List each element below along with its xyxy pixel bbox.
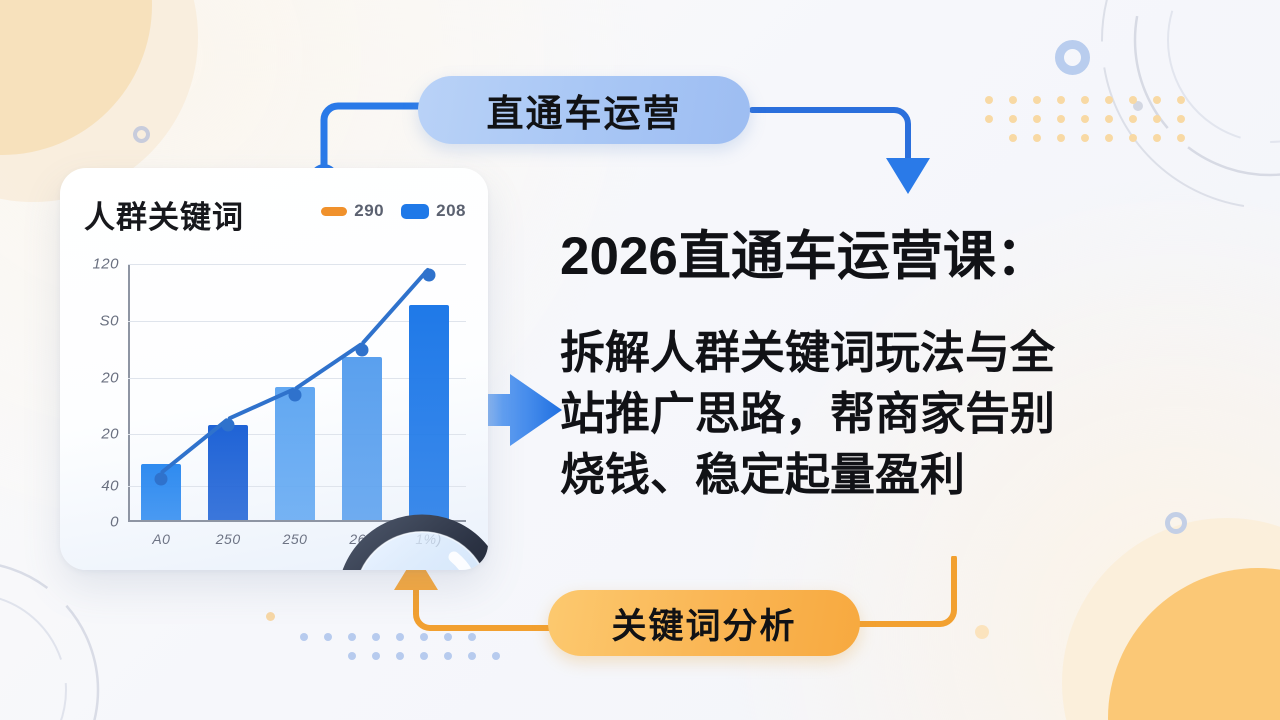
- legend-swatch-bar: [401, 204, 429, 219]
- chart-y-axis: [128, 264, 130, 522]
- chart-line-point: [155, 473, 168, 486]
- chart-gridline: [128, 264, 466, 265]
- decor-ring-blue-top-right: [1055, 40, 1090, 75]
- decor-dot-grid-orange: [985, 96, 1185, 142]
- legend-swatch-line: [321, 207, 347, 216]
- chart-y-tick-label: S0: [100, 312, 119, 329]
- subtitle-line-2: 站推广思路，帮商家告别: [560, 383, 1240, 444]
- chart-card: 人群关键词 290 208 120S02020400A02502502601%): [60, 168, 488, 570]
- subtitle-line-1: 拆解人群关键词玩法与全: [560, 322, 1240, 383]
- chart-y-tick-label: 120: [92, 256, 119, 273]
- chart-x-tick-label: 250: [283, 531, 308, 547]
- connector-bottom-badge-right: [848, 556, 1038, 681]
- chart-y-tick-label: 20: [101, 369, 119, 386]
- connector-top-badge-to-headline: [744, 88, 944, 213]
- corner-blob-bottom-right-ring: [1062, 518, 1280, 720]
- legend-item-line: 290: [321, 201, 384, 221]
- arrow-down-icon: [886, 158, 930, 194]
- subtitle-line-3: 烧钱、稳定起量盈利: [560, 444, 1240, 505]
- chart-y-tick-label: 20: [101, 426, 119, 443]
- corner-blob-bottom-right: [1108, 568, 1280, 720]
- chart-line-point: [289, 389, 302, 402]
- legend-label-bar: 208: [436, 201, 466, 221]
- chart-x-tick-label: 1%): [415, 531, 441, 547]
- chart-bar: [275, 387, 315, 520]
- legend-item-bar: 208: [401, 201, 466, 221]
- chart-bar: [409, 305, 449, 520]
- chart-plot-area: 120S02020400A02502502601%): [128, 264, 462, 522]
- badge-bottom-keyword-analysis[interactable]: 关键词分析: [548, 590, 860, 656]
- decor-dot-orange-bottom-left: [266, 612, 275, 621]
- chart-line-point: [355, 344, 368, 357]
- decor-ring-gray-top-left: [133, 126, 150, 143]
- page-title: 2026直通车运营课：: [560, 214, 1049, 290]
- legend-label-line: 290: [354, 201, 384, 221]
- chart-bar: [342, 357, 382, 520]
- chart-x-tick-label: A0: [152, 531, 170, 547]
- chart-x-tick-label: 260: [349, 531, 374, 547]
- chart-y-tick-label: 40: [101, 477, 119, 494]
- chart-line-point: [222, 419, 235, 432]
- decor-arcs-top-right: [1020, 0, 1280, 250]
- chart-x-tick-label: 250: [216, 531, 241, 547]
- chart-header: 人群关键词 290 208: [84, 188, 470, 234]
- corner-blob-top-left: [0, 0, 152, 155]
- badge-top-zhitongche[interactable]: 直通车运营: [418, 76, 750, 144]
- chart-y-tick-label: 0: [110, 514, 119, 531]
- decor-ring-blue-bottom-right: [1165, 512, 1187, 534]
- decor-ring-orange-top-left: [160, 59, 198, 97]
- chart-x-axis: [128, 520, 466, 522]
- chart-line-point: [422, 268, 435, 281]
- chart-legend: 290 208: [321, 201, 466, 221]
- page-subtitle: 拆解人群关键词玩法与全站推广思路，帮商家告别烧钱、稳定起量盈利: [560, 322, 1240, 505]
- chart-bar: [208, 425, 248, 520]
- decor-dot-orange-bottom-right: [975, 625, 989, 639]
- chart-title: 人群关键词: [84, 192, 244, 237]
- decor-dot-grid-blue: [300, 633, 500, 660]
